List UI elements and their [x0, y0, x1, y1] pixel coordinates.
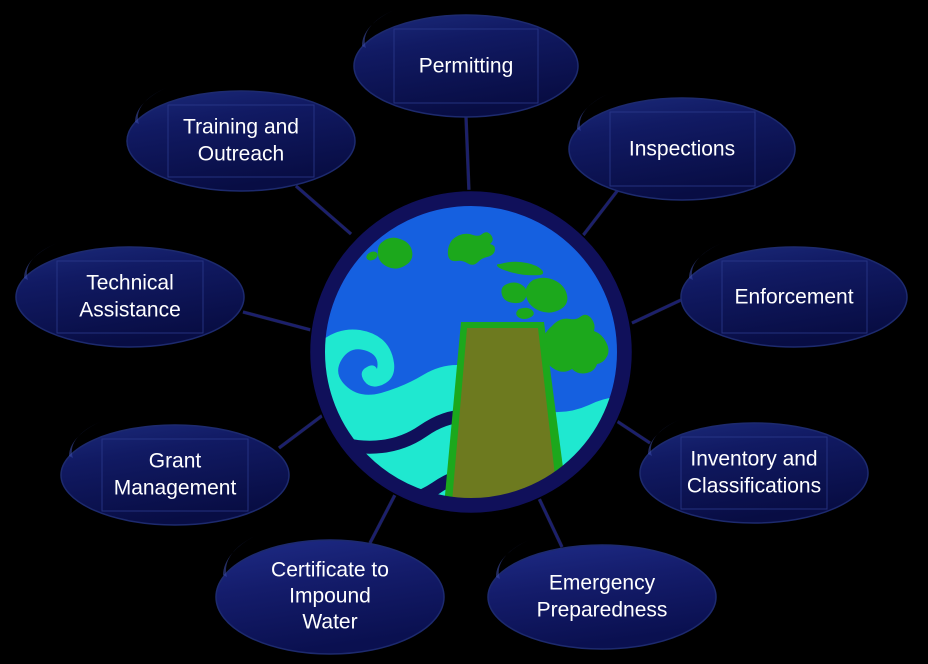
node-label-grant-line1: Grant [149, 450, 202, 473]
node-label-training-line2: Outreach [198, 143, 284, 166]
node-label-grant-line2: Management [114, 477, 237, 500]
hub-and-spoke-diagram: Permitting Inspections Enforcement [0, 0, 928, 664]
connector-technical-assistance [243, 312, 311, 330]
connector-enforcement [632, 300, 681, 323]
node-emergency-preparedness[interactable]: Emergency Preparedness [488, 540, 716, 649]
connector-emergency-preparedness [536, 492, 562, 547]
node-label-inventory-line1: Inventory and [690, 448, 817, 471]
connector-training-and-outreach [296, 186, 351, 234]
connector-inspections [578, 186, 621, 242]
node-label-certificate-line2: Impound [289, 585, 371, 608]
node-inspections[interactable]: Inspections [569, 93, 795, 200]
node-label-inspections: Inspections [629, 138, 735, 161]
connector-permitting [466, 117, 469, 192]
node-label-emergency-line2: Preparedness [537, 599, 668, 622]
node-label-inventory-line2: Classifications [687, 475, 821, 498]
node-grant-management[interactable]: Grant Management [61, 421, 289, 525]
hawaii-dam-safety-emblem [293, 191, 633, 563]
node-technical-assistance[interactable]: Technical Assistance [16, 243, 244, 347]
node-permitting[interactable]: Permitting [354, 10, 578, 117]
diagram-canvas: Permitting Inspections Enforcement [0, 0, 928, 664]
node-label-enforcement: Enforcement [734, 286, 853, 309]
node-label-emergency-line1: Emergency [549, 572, 656, 595]
node-enforcement[interactable]: Enforcement [681, 243, 907, 347]
node-label-certificate-line1: Certificate to [271, 559, 389, 582]
node-label-certificate-line3: Water [302, 611, 357, 634]
node-label-permitting: Permitting [419, 55, 514, 78]
node-inventory-and-classifications[interactable]: Inventory and Classifications [640, 419, 868, 523]
node-label-technical-line1: Technical [86, 272, 174, 295]
connector-certificate-to-impound-water [370, 491, 397, 543]
node-training-and-outreach[interactable]: Training and Outreach [127, 87, 355, 191]
node-certificate-to-impound-water[interactable]: Certificate to Impound Water [216, 535, 444, 654]
node-label-technical-line2: Assistance [79, 299, 181, 322]
node-label-training-line1: Training and [183, 116, 299, 139]
